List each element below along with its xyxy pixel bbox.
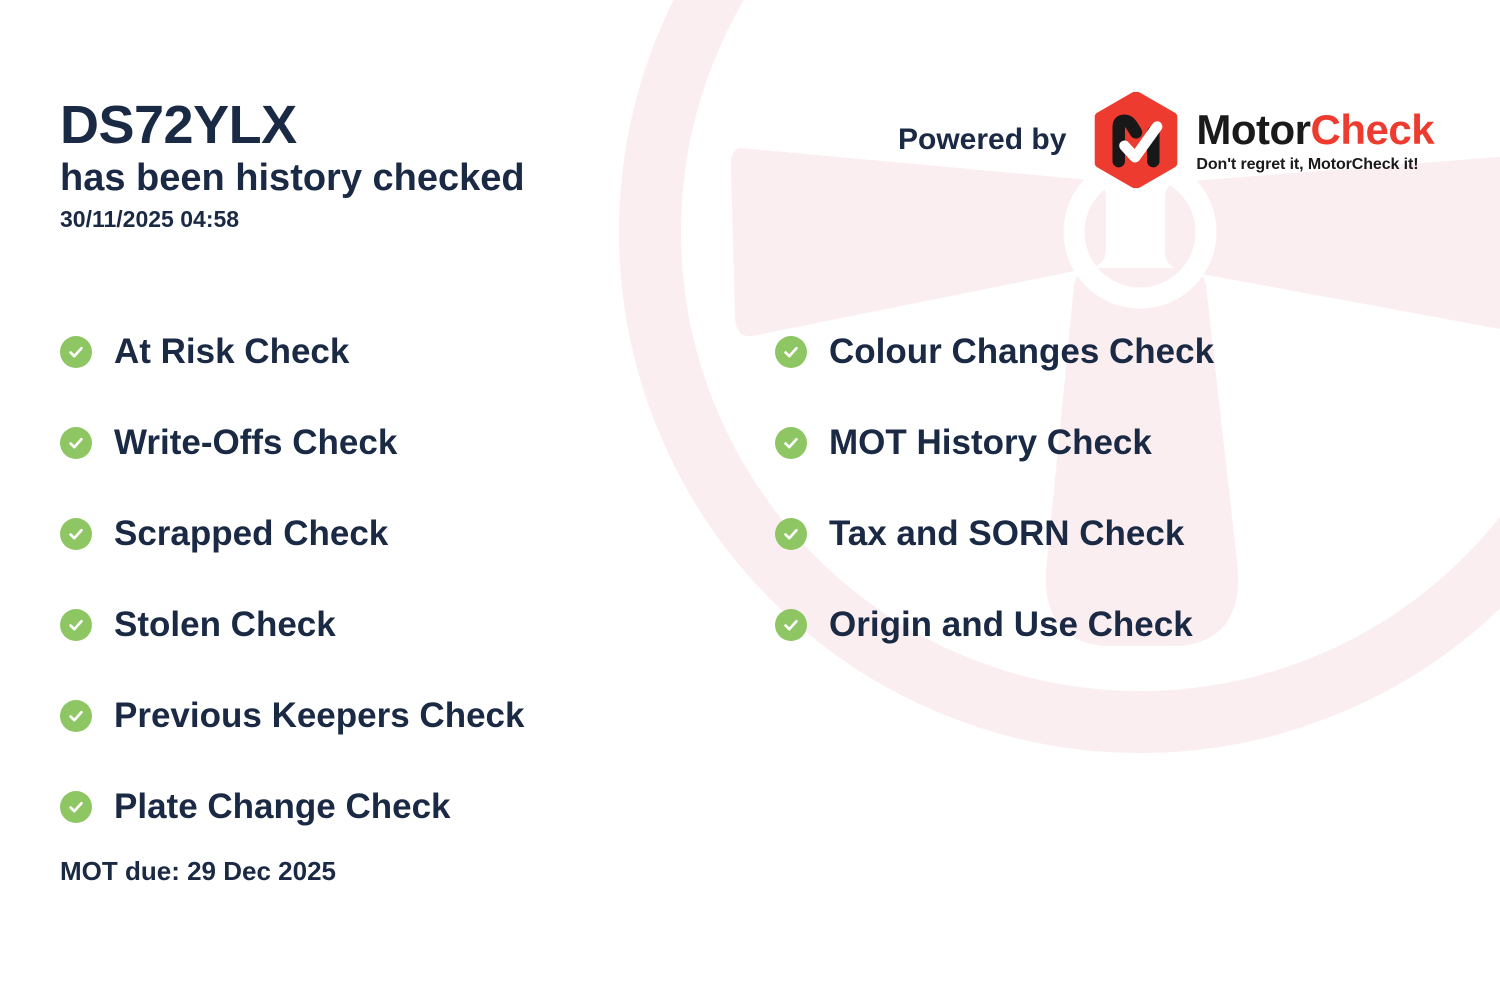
check-circle-icon: [775, 427, 807, 459]
check-item: Scrapped Check: [60, 488, 524, 579]
wordmark-motor: Motor: [1196, 106, 1310, 153]
check-list-left: At Risk CheckWrite-Offs CheckScrapped Ch…: [60, 306, 524, 852]
check-item: Previous Keepers Check: [60, 670, 524, 761]
check-item-label: At Risk Check: [114, 334, 349, 369]
check-item: Write-Offs Check: [60, 397, 524, 488]
check-item-label: Previous Keepers Check: [114, 698, 524, 733]
check-circle-icon: [60, 609, 92, 641]
headline-subtitle: has been history checked: [60, 157, 760, 200]
check-circle-icon: [775, 336, 807, 368]
wordmark-check: Check: [1311, 106, 1435, 153]
check-item-label: Colour Changes Check: [829, 334, 1214, 369]
mot-due-footer: MOT due: 29 Dec 2025: [60, 856, 336, 887]
check-circle-icon: [775, 518, 807, 550]
motorcheck-wordmark-block: MotorCheck Don't regret it, MotorCheck i…: [1196, 109, 1434, 174]
check-item: Tax and SORN Check: [775, 488, 1214, 579]
check-item: Stolen Check: [60, 579, 524, 670]
history-check-summary-card: DS72YLX has been history checked 30/11/2…: [0, 0, 1500, 1000]
check-circle-icon: [60, 427, 92, 459]
checked-timestamp: 30/11/2025 04:58: [60, 206, 760, 233]
check-item-label: Tax and SORN Check: [829, 516, 1184, 551]
registration-plate-title: DS72YLX: [60, 98, 760, 153]
check-circle-icon: [775, 609, 807, 641]
check-item: Colour Changes Check: [775, 306, 1214, 397]
motorcheck-logo[interactable]: MotorCheck Don't regret it, MotorCheck i…: [1088, 92, 1434, 188]
check-item-label: MOT History Check: [829, 425, 1152, 460]
check-item-label: Scrapped Check: [114, 516, 388, 551]
check-item-label: Stolen Check: [114, 607, 336, 642]
check-item: At Risk Check: [60, 306, 524, 397]
check-item-label: Plate Change Check: [114, 789, 451, 824]
check-list-right: Colour Changes CheckMOT History CheckTax…: [775, 306, 1214, 670]
check-item: MOT History Check: [775, 397, 1214, 488]
check-item-label: Write-Offs Check: [114, 425, 397, 460]
motorcheck-hexagon-icon: [1088, 92, 1184, 188]
motorcheck-wordmark: MotorCheck: [1196, 109, 1434, 151]
check-item: Origin and Use Check: [775, 579, 1214, 670]
powered-by-block: Powered by MotorCheck Don't regret it, M…: [898, 92, 1434, 188]
check-circle-icon: [60, 791, 92, 823]
check-circle-icon: [60, 518, 92, 550]
check-item: Plate Change Check: [60, 761, 524, 852]
motorcheck-tagline: Don't regret it, MotorCheck it!: [1196, 156, 1434, 174]
check-item-label: Origin and Use Check: [829, 607, 1193, 642]
powered-by-label: Powered by: [898, 123, 1066, 157]
headline-block: DS72YLX has been history checked 30/11/2…: [60, 98, 760, 233]
check-circle-icon: [60, 700, 92, 732]
check-circle-icon: [60, 336, 92, 368]
